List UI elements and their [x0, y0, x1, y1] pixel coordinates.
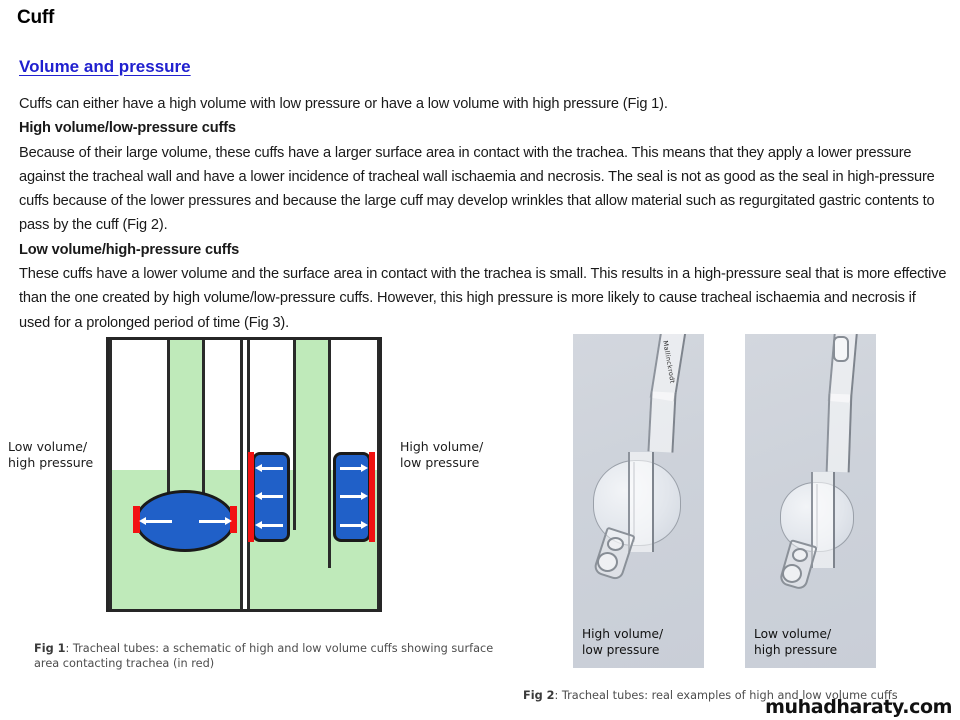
- subheading-low-volume-high-pressure: Low volume/high-pressure cuffs: [19, 238, 947, 262]
- figure2-photo-high-volume: Mallinckrodt High volume/ low pressure: [573, 334, 704, 668]
- tube-top-opening-low: [833, 336, 849, 362]
- pressure-arrow-high-volume-right-2: [340, 495, 362, 498]
- site-watermark: muhadharaty.com: [765, 696, 952, 718]
- tube-shaft-mid-high: [647, 391, 676, 452]
- tube-opening-low: [782, 564, 802, 583]
- murphy-eye-low: [792, 548, 808, 562]
- tube-shaft-mid-low: [826, 394, 853, 473]
- contact-area-right-high-volume: [369, 452, 375, 542]
- contact-area-left-high-volume: [248, 452, 254, 542]
- article-body: Cuffs can either have a high volume with…: [19, 92, 947, 335]
- tracheal-wall-left-outer: [109, 340, 112, 610]
- pressure-arrow-high-volume-right-3: [340, 524, 362, 527]
- pressure-arrow-low-volume-left: [145, 520, 172, 523]
- tube-wall-right-b: [328, 340, 331, 568]
- paragraph-low-volume: These cuffs have a lower volume and the …: [19, 262, 947, 335]
- tube-wall-right-a: [293, 340, 296, 530]
- pressure-arrow-high-volume-left-1: [261, 467, 283, 470]
- figure1-schematic: [106, 337, 382, 612]
- tracheal-wall-left-inner: [240, 340, 243, 610]
- section-heading-volume-and-pressure: Volume and pressure: [19, 57, 191, 77]
- figure2-caption-number: Fig 2: [523, 689, 554, 702]
- tube-opening-high: [597, 552, 618, 572]
- page-title: Cuff: [17, 7, 54, 29]
- trachea-channel-left: [169, 340, 204, 500]
- pressure-arrow-high-volume-left-3: [261, 524, 283, 527]
- pressure-arrow-high-volume-right-1: [340, 467, 362, 470]
- figure2-photo-label-low-volume: Low volume/ high pressure: [754, 626, 837, 658]
- figure1-label-high-volume: High volume/ low pressure: [400, 439, 483, 471]
- subheading-high-volume-low-pressure: High volume/low-pressure cuffs: [19, 116, 947, 140]
- tracheal-wall-right-outer: [377, 340, 380, 610]
- trachea-channel-right: [295, 340, 330, 500]
- pressure-arrow-low-volume-right: [199, 520, 226, 523]
- paragraph-intro: Cuffs can either have a high volume with…: [19, 92, 947, 116]
- figure1-caption-number: Fig 1: [34, 642, 65, 655]
- paragraph-high-volume: Because of their large volume, these cuf…: [19, 141, 947, 238]
- pressure-arrow-high-volume-left-2: [261, 495, 283, 498]
- figure1-caption-text: : Tracheal tubes: a schematic of high an…: [34, 642, 493, 670]
- figure2-photo-low-volume: Low volume/ high pressure: [745, 334, 876, 668]
- murphy-eye-high: [607, 537, 624, 551]
- figure2-photo-label-high-volume: High volume/ low pressure: [582, 626, 663, 658]
- figure1-caption: Fig 1: Tracheal tubes: a schematic of hi…: [34, 641, 509, 671]
- figure1-label-low-volume: Low volume/ high pressure: [8, 439, 93, 471]
